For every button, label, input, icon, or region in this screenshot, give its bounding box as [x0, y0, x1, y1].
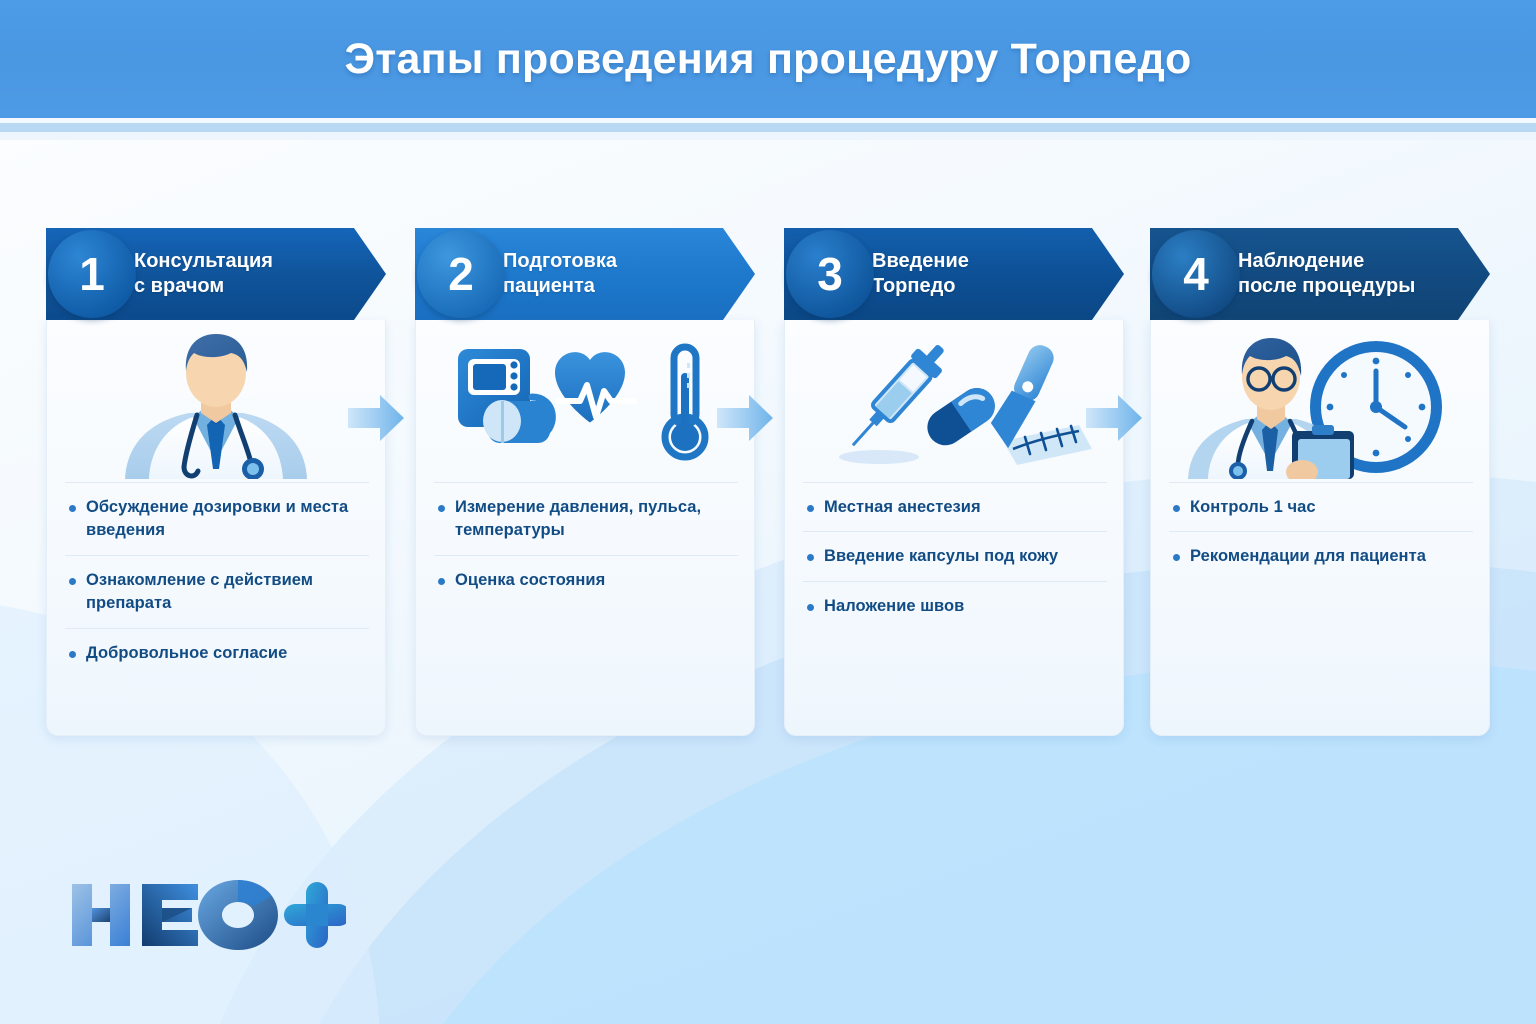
bullet-text: Обсуждение дозировки и места введения [86, 496, 369, 543]
bullet-dot-icon [69, 505, 76, 512]
bullet-text: Рекомендации для пациента [1190, 545, 1426, 568]
step-number-badge-1: 1 [48, 230, 136, 318]
bullet-text: Введение капсулы под кожу [824, 545, 1058, 568]
step-bullets-4: Контроль 1 час Рекомендации для пациента [1151, 482, 1489, 581]
page-header: Этапы проведения процедуру Торпедо [0, 0, 1536, 118]
chevron-right-icon [717, 395, 773, 441]
step-title-2: Подготовка пациента [503, 249, 617, 299]
bullet-item: Контроль 1 час [1169, 482, 1473, 531]
step-bullets-2: Измерение давления, пульса, температуры … [416, 482, 754, 604]
infographic-page: Этапы проведения процедуру Торпедо Консу… [0, 0, 1536, 1024]
brand-logo[interactable] [66, 876, 346, 959]
step-illustration-2 [416, 320, 754, 482]
bullet-text: Оценка состояния [455, 569, 605, 592]
bullet-dot-icon [807, 604, 814, 611]
bullet-item: Оценка состояния [434, 555, 738, 604]
step-body-1: Обсуждение дозировки и места введения Оз… [46, 320, 386, 736]
arrow-step-2-to-3 [717, 395, 773, 441]
bullet-text: Местная анестезия [824, 496, 981, 519]
bullet-dot-icon [438, 505, 445, 512]
bullet-item: Введение капсулы под кожу [803, 531, 1107, 580]
bullet-dot-icon [69, 651, 76, 658]
bullet-text: Контроль 1 час [1190, 496, 1316, 519]
bullet-item: Наложение швов [803, 581, 1107, 630]
bullet-item: Добровольное согласие [65, 628, 369, 677]
bullet-dot-icon [807, 554, 814, 561]
step-body-3: Местная анестезия Введение капсулы под к… [784, 320, 1124, 736]
doctor-clipboard-clock-icon [1180, 329, 1460, 479]
step-card-3[interactable]: Введение Торпедо 3 [784, 228, 1124, 736]
step-card-1[interactable]: Консультация с врачом 1 [46, 228, 386, 736]
bullet-dot-icon [438, 578, 445, 585]
bullet-text: Добровольное согласие [86, 642, 287, 665]
steps-container: Консультация с врачом 1 [46, 228, 1490, 748]
bullet-item: Обсуждение дозировки и места введения [65, 482, 369, 555]
header-divider-blue [0, 123, 1536, 132]
arrow-step-3-to-4 [1086, 395, 1142, 441]
bullet-dot-icon [1173, 505, 1180, 512]
step-title-3: Введение Торпедо [872, 249, 969, 299]
vitals-monitor-heart-thermometer-icon [450, 339, 720, 469]
step-illustration-1 [47, 320, 385, 482]
neo-plus-logo-icon [66, 876, 346, 954]
step-illustration-4 [1151, 320, 1489, 482]
bullet-dot-icon [69, 578, 76, 585]
step-title-1: Консультация с врачом [134, 249, 273, 299]
arrow-step-1-to-2 [348, 395, 404, 441]
bullet-dot-icon [807, 505, 814, 512]
step-title-4: Наблюдение после процедуры [1238, 249, 1415, 299]
step-body-4: Контроль 1 час Рекомендации для пациента [1150, 320, 1490, 736]
bullet-dot-icon [1173, 554, 1180, 561]
header-divider-pale [0, 132, 1536, 140]
step-card-4[interactable]: Наблюдение после процедуры 4 [1150, 228, 1490, 736]
bullet-text: Наложение швов [824, 595, 964, 618]
chevron-right-icon [348, 395, 404, 441]
bullet-text: Ознакомление с действием препарата [86, 569, 369, 616]
step-bullets-3: Местная анестезия Введение капсулы под к… [785, 482, 1123, 630]
step-illustration-3 [785, 320, 1123, 482]
bullet-item: Местная анестезия [803, 482, 1107, 531]
chevron-right-icon [1086, 395, 1142, 441]
bullet-text: Измерение давления, пульса, температуры [455, 496, 738, 543]
syringe-capsule-scalpel-sutures-icon [817, 337, 1092, 472]
page-title: Этапы проведения процедуру Торпедо [344, 35, 1191, 84]
step-card-2[interactable]: Подготовка пациента 2 [415, 228, 755, 736]
step-body-2: Измерение давления, пульса, температуры … [415, 320, 755, 736]
step-number-badge-4: 4 [1152, 230, 1240, 318]
step-number-badge-2: 2 [417, 230, 505, 318]
bullet-item: Ознакомление с действием препарата [65, 555, 369, 628]
step-number-badge-3: 3 [786, 230, 874, 318]
doctor-stethoscope-icon [101, 329, 331, 479]
bullet-item: Измерение давления, пульса, температуры [434, 482, 738, 555]
step-bullets-1: Обсуждение дозировки и места введения Оз… [47, 482, 385, 677]
bullet-item: Рекомендации для пациента [1169, 531, 1473, 580]
